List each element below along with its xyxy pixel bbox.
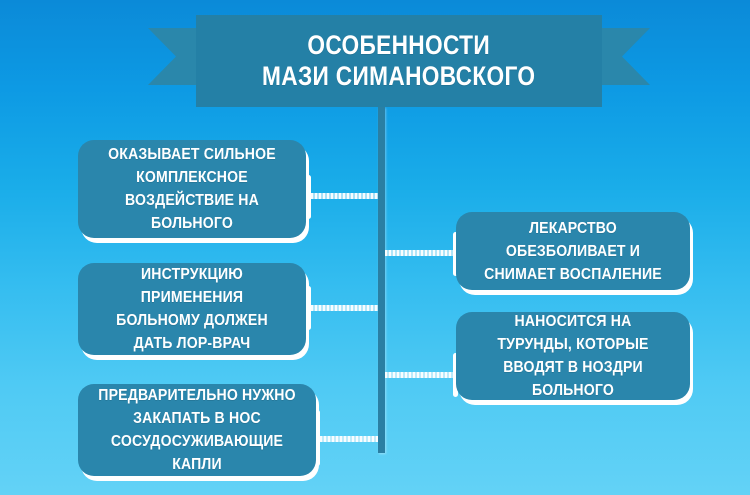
feature-card-left-3-text: ПРЕДВАРИТЕЛЬНО НУЖНО ЗАКАПАТЬ В НОС СОСУ… [92,384,301,476]
connector-left-2 [311,305,383,311]
feature-card-left-3[interactable]: ПРЕДВАРИТЕЛЬНО НУЖНО ЗАКАПАТЬ В НОС СОСУ… [78,384,316,476]
feature-card-left-1-text: ОКАЗЫВАЕТ СИЛЬНОЕ КОМПЛЕКСНОЕ ВОЗДЕЙСТВИ… [92,143,293,235]
connector-left-1 [311,193,383,199]
feature-card-right-2-text: НАНОСИТСЯ НА ТУРУНДЫ, КОТОРЫЕ ВВОДЯТ В Н… [470,310,676,402]
connector-left-3 [320,436,383,442]
feature-card-left-2-text: ИНСТРУКЦИЮ ПРИМЕНЕНИЯ БОЛЬНОМУ ДОЛЖЕН ДА… [92,263,293,355]
feature-card-right-1[interactable]: ЛЕКАРСТВО ОБЕЗБОЛИВАЕТ И СНИМАЕТ ВОСПАЛЕ… [456,212,690,290]
connector-right-2 [385,372,457,378]
page-title-line-2: МАЗИ СИМАНОВСКОГО [262,61,535,92]
connector-tick-left-2 [306,286,311,330]
connector-right-1 [385,250,457,256]
connector-tick-left-1 [306,175,311,219]
feature-card-right-1-text: ЛЕКАРСТВО ОБЕЗБОЛИВАЕТ И СНИМАЕТ ВОСПАЛЕ… [470,217,676,286]
feature-card-left-1[interactable]: ОКАЗЫВАЕТ СИЛЬНОЕ КОМПЛЕКСНОЕ ВОЗДЕЙСТВИ… [78,140,306,238]
infographic-canvas: ОСОБЕННОСТИ МАЗИ СИМАНОВСКОГО ОКАЗЫВАЕТ … [0,0,750,495]
central-spine [378,107,385,453]
feature-card-left-2[interactable]: ИНСТРУКЦИЮ ПРИМЕНЕНИЯ БОЛЬНОМУ ДОЛЖЕН ДА… [78,263,306,355]
page-title-line-1: ОСОБЕННОСТИ [308,30,491,61]
title-banner: ОСОБЕННОСТИ МАЗИ СИМАНОВСКОГО [196,15,602,107]
feature-card-right-2[interactable]: НАНОСИТСЯ НА ТУРУНДЫ, КОТОРЫЕ ВВОДЯТ В Н… [456,312,690,400]
